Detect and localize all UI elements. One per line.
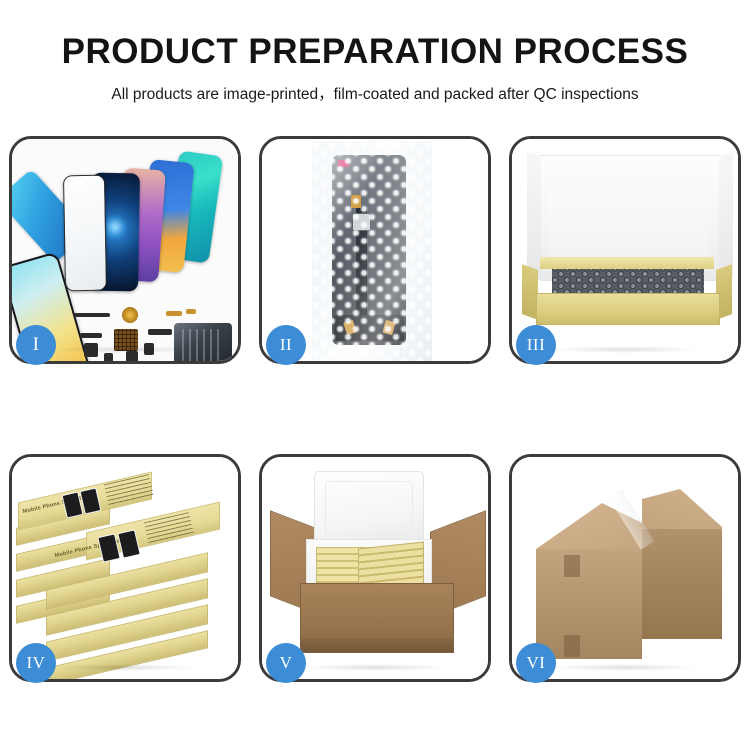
- step-badge-2: II: [266, 325, 306, 365]
- step-1-shadow: [53, 346, 198, 353]
- step-3-shadow: [553, 346, 698, 353]
- step-badge-6: VI: [516, 643, 556, 683]
- box-inner-rim: [540, 257, 714, 269]
- part-gold-clip: [186, 309, 196, 314]
- tempered-glass-sheet: [63, 175, 107, 292]
- process-step-panel-2[interactable]: II: [259, 136, 491, 364]
- part-ribbon-cable: [148, 329, 172, 335]
- box-spec-lines-rear: [104, 474, 154, 508]
- process-step-panel-1[interactable]: I: [9, 136, 241, 364]
- yellow-carton-front: [536, 293, 720, 325]
- part-logic-board: [174, 323, 232, 361]
- outer-carton-body: [300, 583, 454, 653]
- part-coil: [122, 307, 138, 323]
- step-badge-4: IV: [16, 643, 56, 683]
- process-step-panel-4[interactable]: Mobile Phone Spare Parts Mobile Phone Sp…: [9, 454, 241, 682]
- carton-face-front: [536, 549, 642, 659]
- page-subtitle: All products are image-printed，film-coat…: [0, 82, 750, 104]
- part-connector-strip: [80, 333, 102, 338]
- carton-tab-upper: [564, 555, 580, 577]
- part-screw-plate: [104, 353, 113, 361]
- process-step-panel-3[interactable]: III: [509, 136, 741, 364]
- bubble-wrap-bag: [312, 141, 432, 361]
- part-earpiece-mesh: [74, 313, 110, 317]
- step-badge-1: I: [16, 325, 56, 365]
- styrofoam-lid: [314, 471, 424, 545]
- carton-tab-lower: [564, 635, 580, 657]
- step-6-shadow: [553, 664, 698, 671]
- step-5-shadow: [303, 664, 448, 671]
- process-step-panel-5[interactable]: V: [259, 454, 491, 682]
- page-title: PRODUCT PREPARATION PROCESS: [0, 34, 750, 71]
- step-badge-5: V: [266, 643, 306, 683]
- process-step-panel-6[interactable]: VI: [509, 454, 741, 682]
- step-badge-3: III: [516, 325, 556, 365]
- white-foam-sheet: [548, 189, 710, 265]
- carton-face-side: [642, 529, 722, 639]
- page-header: PRODUCT PREPARATION PROCESS All products…: [0, 0, 750, 104]
- step-4-shadow: [53, 664, 198, 671]
- sealed-carton: [530, 477, 728, 657]
- process-step-grid: I II: [9, 136, 741, 682]
- bag-sheen: [312, 141, 432, 361]
- part-gold-flex: [166, 311, 182, 316]
- stacked-boxes: Mobile Phone Spare Parts Mobile Phone Sp…: [16, 471, 238, 671]
